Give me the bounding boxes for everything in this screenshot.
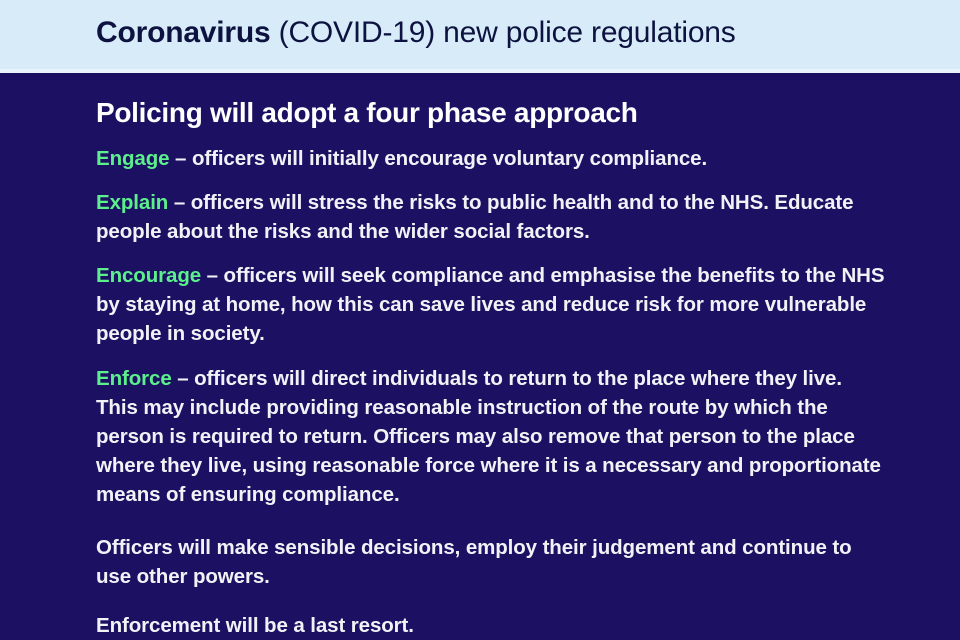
police-regulations-poster: Coronavirus (COVID-19) new police regula… [0, 0, 960, 640]
body-content: Policing will adopt a four phase approac… [0, 73, 960, 640]
page-title-strong: Coronavirus [96, 16, 271, 49]
phase-separator-explain: – [168, 191, 191, 214]
phase-paragraph-explain: Explain – officers will stress the risks… [96, 188, 886, 246]
section-heading: Policing will adopt a four phase approac… [96, 96, 942, 130]
phase-separator-encourage: – [201, 264, 224, 287]
phase-paragraph-enforce: Enforce – officers will direct individua… [96, 364, 886, 509]
phase-paragraph-encourage: Encourage – officers will seek complianc… [96, 261, 886, 348]
phase-text-engage: officers will initially encourage volunt… [192, 147, 707, 170]
phase-keyword-encourage: Encourage [96, 264, 201, 287]
phase-separator-enforce: – [172, 367, 195, 390]
closing-paragraph-officers-judgement: Officers will make sensible decisions, e… [96, 533, 886, 591]
closing-paragraph-last-resort: Enforcement will be a last resort. [96, 611, 886, 640]
phase-text-explain: officers will stress the risks to public… [96, 191, 853, 243]
phase-text-enforce: officers will direct individuals to retu… [96, 367, 881, 506]
phase-keyword-enforce: Enforce [96, 367, 172, 390]
phase-keyword-engage: Engage [96, 147, 169, 170]
header-band: Coronavirus (COVID-19) new police regula… [0, 0, 960, 73]
phase-paragraph-engage: Engage – officers will initially encoura… [96, 144, 886, 173]
phase-separator-engage: – [169, 147, 192, 170]
phase-keyword-explain: Explain [96, 191, 168, 214]
page-title-rest: (COVID-19) new police regulations [271, 16, 736, 49]
page-title: Coronavirus (COVID-19) new police regula… [96, 14, 736, 52]
